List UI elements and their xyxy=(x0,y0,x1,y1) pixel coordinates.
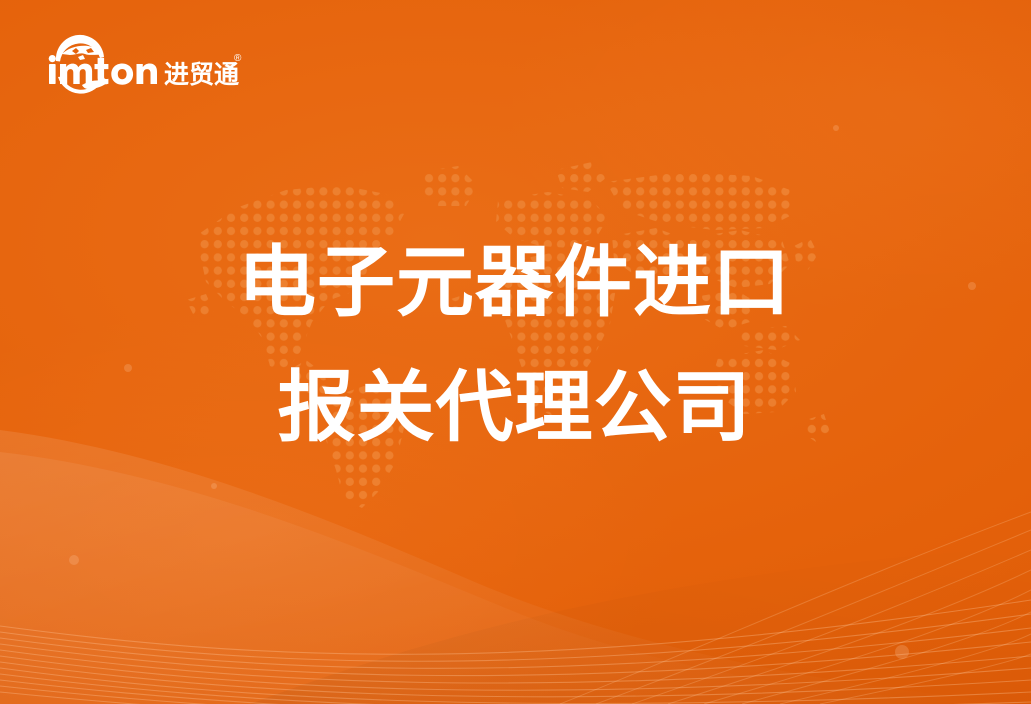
headline-block: 电子元器件进口 报关代理公司 xyxy=(0,243,1031,446)
logo[interactable]: 进贸通 ® xyxy=(38,27,248,101)
logo-trademark-symbol: ® xyxy=(234,53,242,64)
headline-line-1: 电子元器件进口 xyxy=(0,243,1031,321)
logo-wordmark-chinese: 进贸通 xyxy=(164,61,239,89)
logo-wordmark-latin xyxy=(49,55,157,85)
headline-line-2: 报关代理公司 xyxy=(0,368,1031,446)
promo-banner: 进贸通 ® 电子元器件进口 报关代理公司 xyxy=(0,0,1031,704)
